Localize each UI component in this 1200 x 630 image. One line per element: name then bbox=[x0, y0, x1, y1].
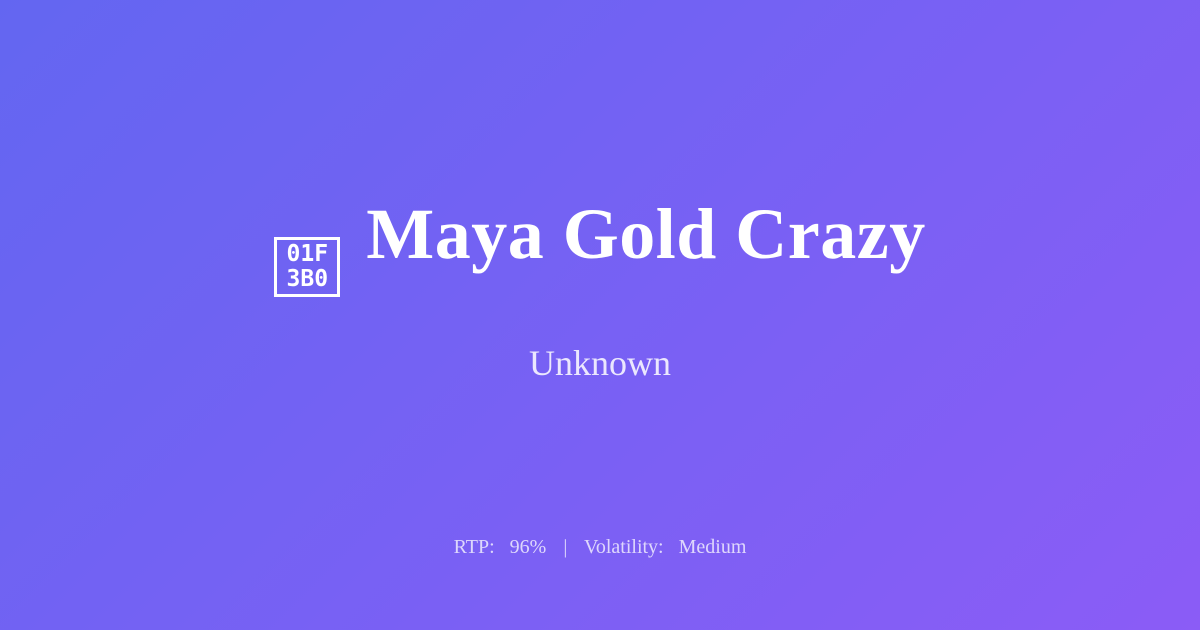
volatility-label: Volatility: bbox=[584, 536, 664, 558]
game-hero-banner: 01F 3B0 Maya Gold Crazy Unknown RTP: 96%… bbox=[0, 0, 1200, 630]
game-provider-subtitle: Unknown bbox=[529, 342, 671, 384]
rtp-label: RTP: bbox=[454, 536, 495, 558]
rtp-value: 96% bbox=[510, 536, 547, 558]
title-row: 01F 3B0 Maya Gold Crazy bbox=[274, 195, 925, 294]
stats-separator: | bbox=[561, 536, 569, 558]
game-stats-line: RTP: 96% | Volatility: Medium bbox=[0, 534, 1200, 560]
tofu-hex-row-top: 01F bbox=[287, 242, 329, 267]
tofu-hex-row-bottom: 3B0 bbox=[287, 267, 329, 292]
game-title: Maya Gold Crazy bbox=[366, 195, 925, 273]
volatility-value: Medium bbox=[679, 536, 747, 558]
slot-machine-emoji-icon: 01F 3B0 bbox=[274, 237, 340, 297]
